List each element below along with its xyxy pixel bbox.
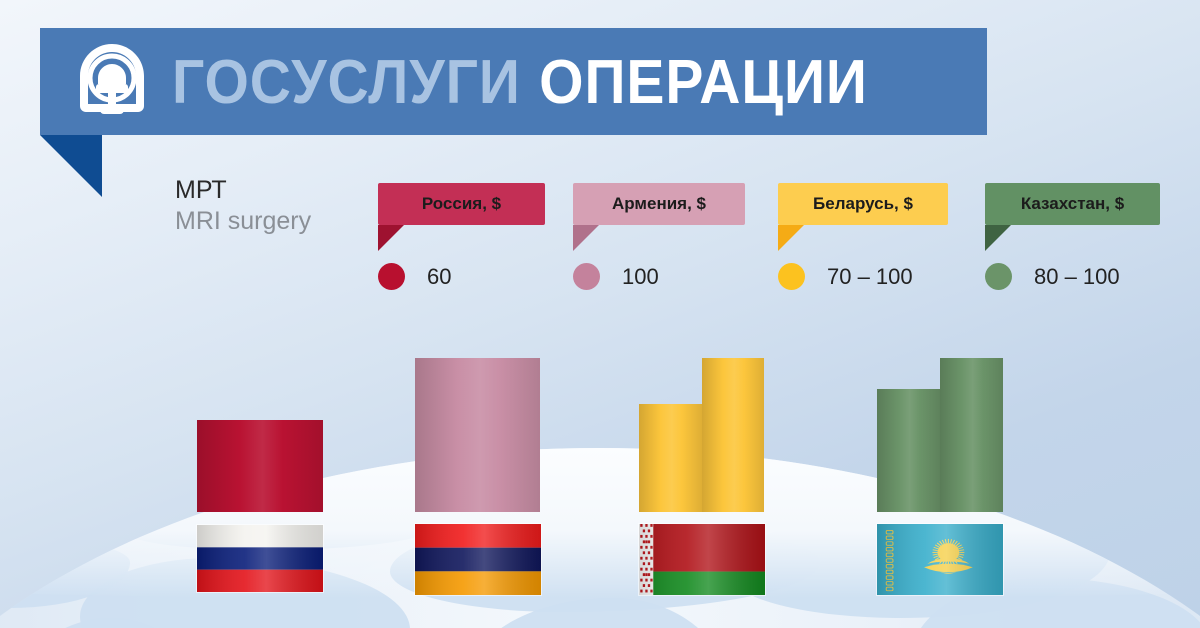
legend-country-label: Россия, $ (422, 194, 501, 214)
legend-value-row: 60 (378, 263, 451, 290)
globe-background (0, 448, 1200, 628)
legend-item-3[interactable]: Беларусь, $70 – 100 (778, 183, 948, 225)
bar-4-min[interactable] (877, 389, 940, 512)
page-title: ГОСУСЛУГИ ОПЕРАЦИИ (172, 36, 868, 128)
bar-3-min[interactable] (639, 404, 702, 512)
legend-item-1[interactable]: Россия, $60 (378, 183, 545, 225)
legend-price-value: 70 – 100 (827, 264, 913, 290)
legend-country-tooltip: Россия, $ (378, 183, 545, 225)
belarus-flag (639, 524, 765, 595)
armenia-flag (415, 524, 541, 595)
legend-color-dot (985, 263, 1012, 290)
legend-value-row: 80 – 100 (985, 263, 1120, 290)
infographic-canvas: ГОСУСЛУГИ ОПЕРАЦИИ МРТ MRI surgery Росси… (0, 0, 1200, 628)
legend-item-2[interactable]: Армения, $100 (573, 183, 745, 225)
procedure-label: МРТ MRI surgery (175, 175, 311, 237)
tooltip-tail (378, 225, 404, 251)
tooltip-tail (985, 225, 1011, 251)
legend-country-label: Казахстан, $ (1021, 194, 1124, 214)
tooltip-tail (778, 225, 804, 251)
tooltip-tail (573, 225, 599, 251)
ice-cap (0, 448, 1200, 598)
legend-country-label: Беларусь, $ (813, 194, 913, 214)
bar-2[interactable] (415, 358, 540, 512)
kazakhstan-flag (877, 524, 1003, 595)
legend-color-dot (573, 263, 600, 290)
bar-4-max[interactable] (940, 358, 1003, 512)
title-strong: ОПЕРАЦИИ (539, 47, 868, 118)
legend-color-dot (778, 263, 805, 290)
legend-country-tooltip: Беларусь, $ (778, 183, 948, 225)
legend-value-row: 100 (573, 263, 659, 290)
legend-country-tooltip: Армения, $ (573, 183, 745, 225)
banner-ribbon-fold (40, 135, 102, 197)
legend-country-label: Армения, $ (612, 194, 706, 214)
legend-price-value: 60 (427, 264, 451, 290)
legend-item-4[interactable]: Казахстан, $80 – 100 (985, 183, 1160, 225)
legend-price-value: 100 (622, 264, 659, 290)
legend-value-row: 70 – 100 (778, 263, 913, 290)
procedure-name-en: MRI surgery (175, 205, 311, 237)
legend-color-dot (378, 263, 405, 290)
russia-flag (197, 525, 323, 592)
bar-3-max[interactable] (702, 358, 764, 512)
legend-country-tooltip: Казахстан, $ (985, 183, 1160, 225)
procedure-name-ru: МРТ (175, 175, 311, 205)
bar-1[interactable] (197, 420, 323, 512)
legend-price-value: 80 – 100 (1034, 264, 1120, 290)
mri-scanner-icon (68, 38, 156, 126)
title-muted: ГОСУСЛУГИ (172, 47, 521, 118)
